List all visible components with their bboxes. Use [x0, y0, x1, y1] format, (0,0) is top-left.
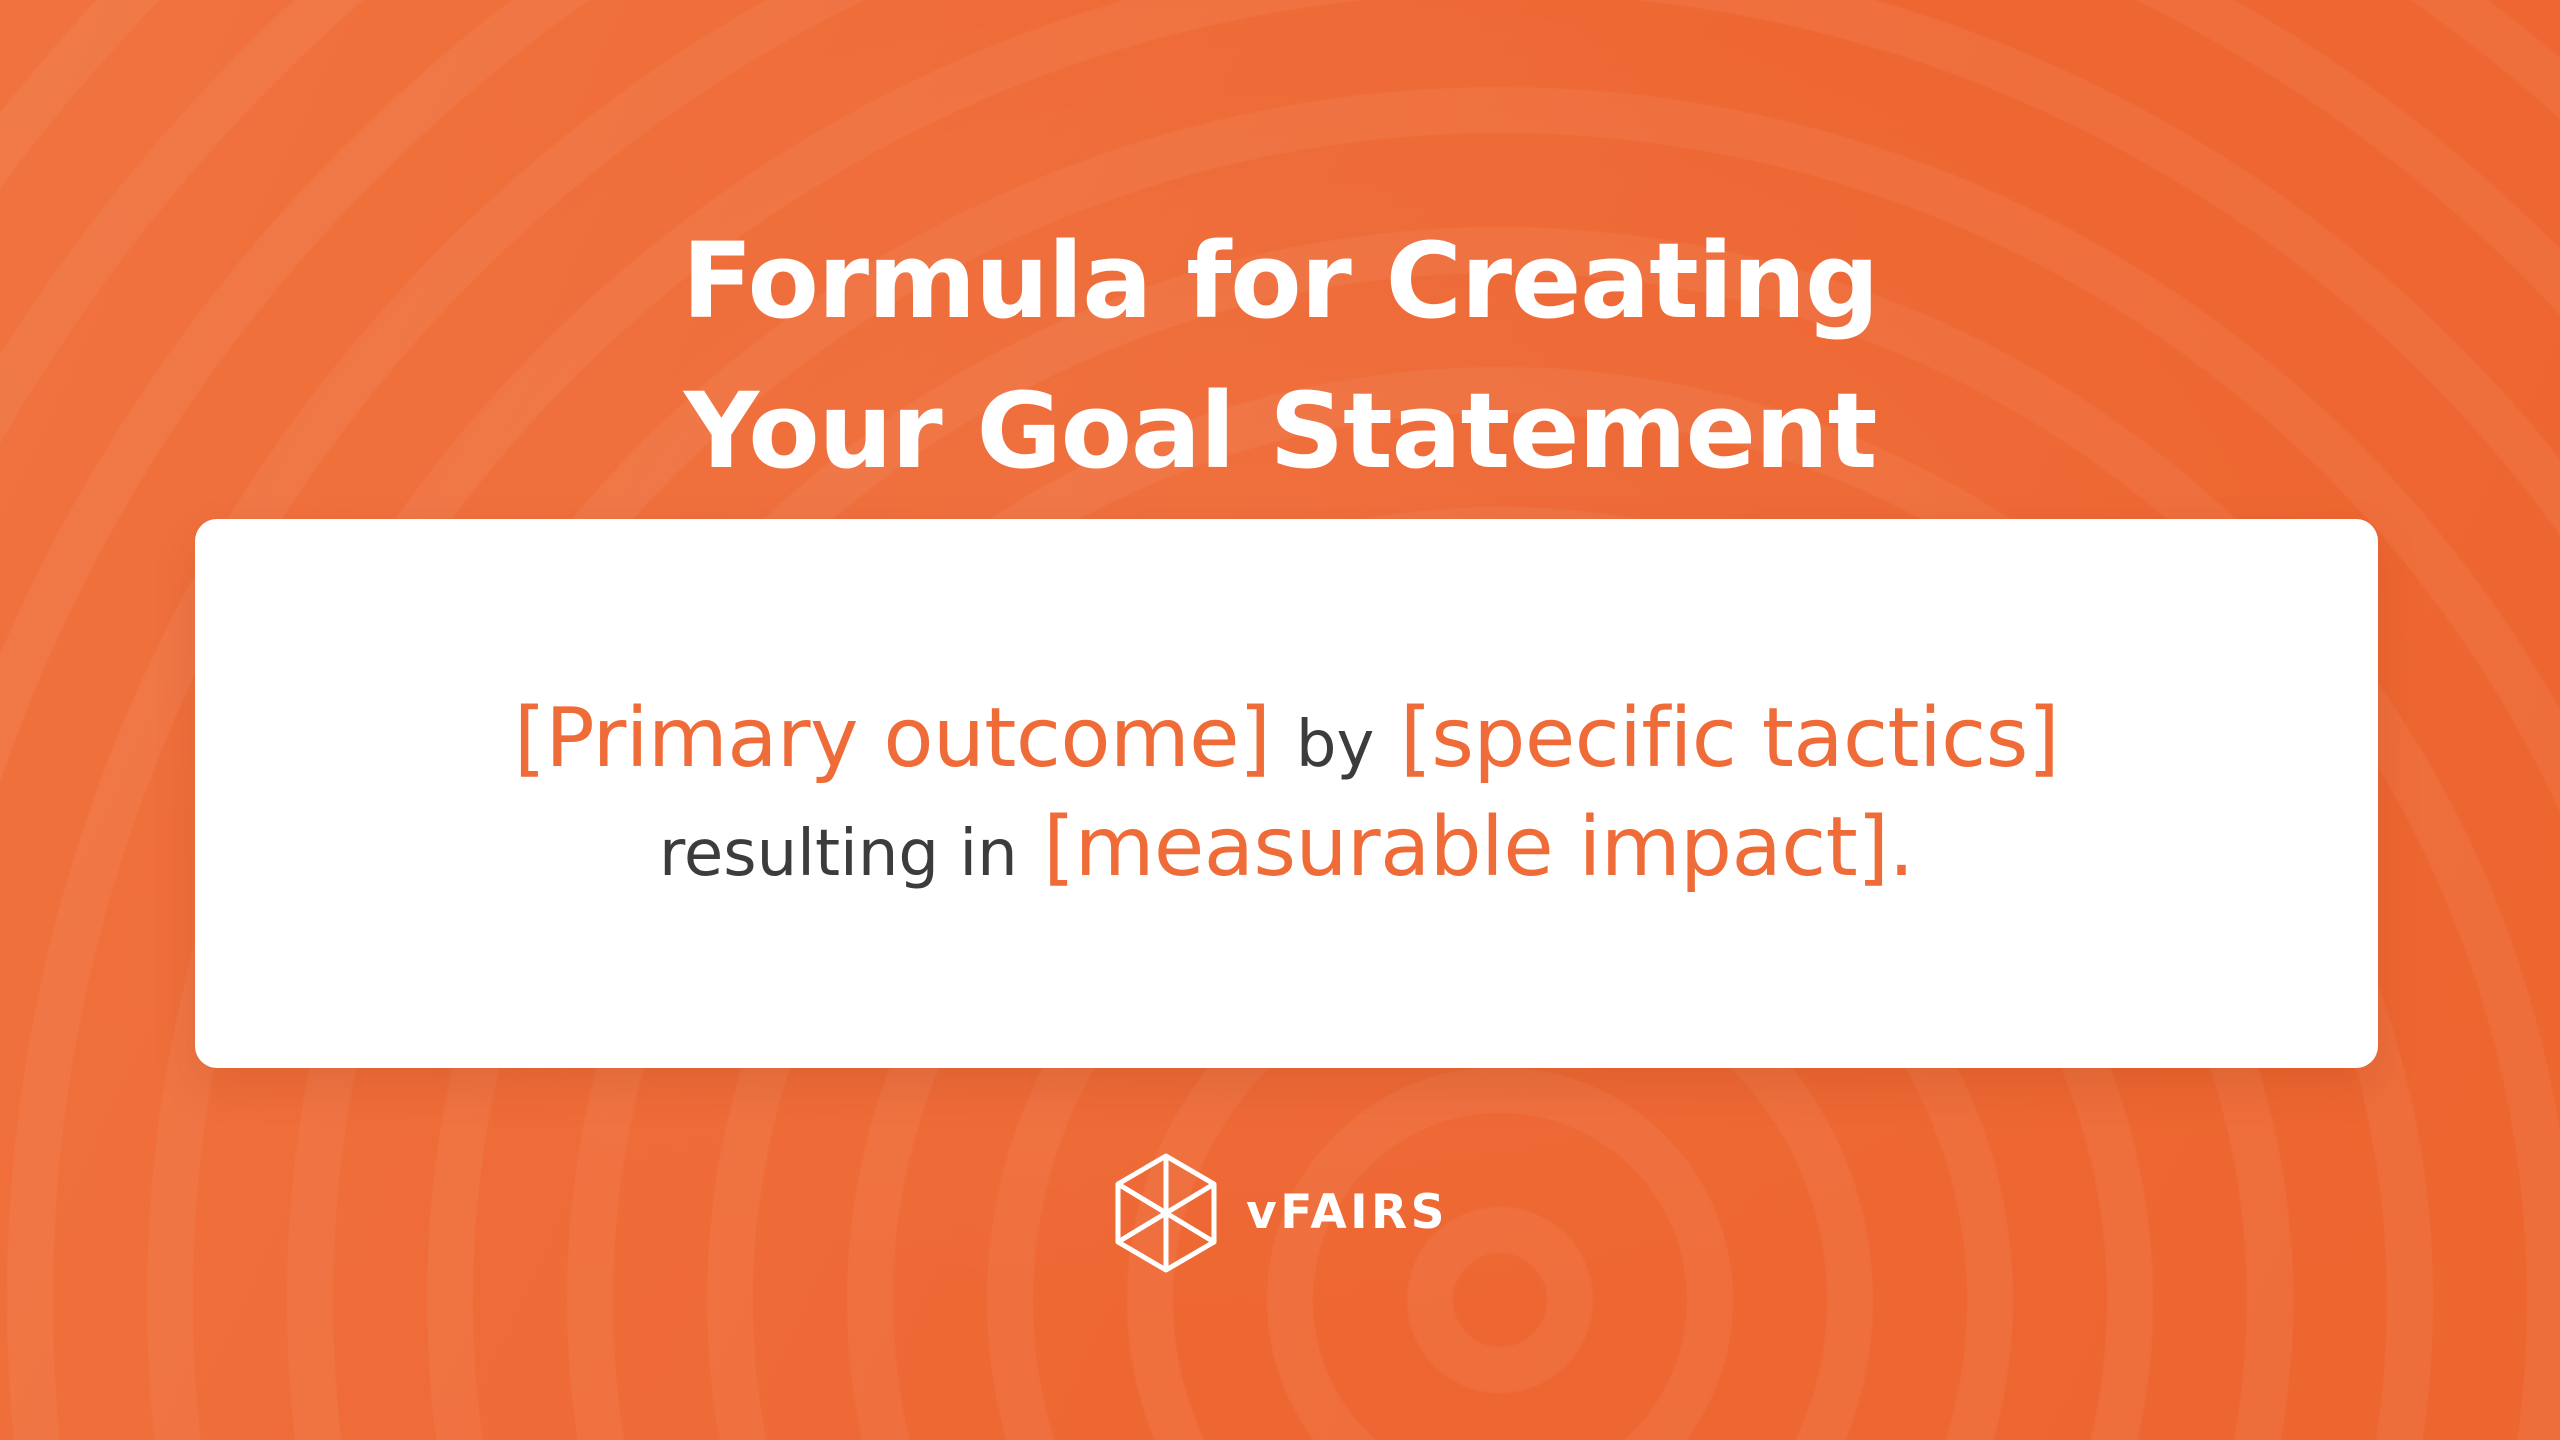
formula-line-1: [Primary outcome] by [specific tactics] — [255, 685, 2318, 793]
vfairs-logo-lockup: vFAIRS — [0, 1152, 2560, 1274]
formula-joiner-by: by — [1296, 708, 1375, 782]
placeholder-primary-outcome: [Primary outcome] — [514, 691, 1271, 786]
placeholder-specific-tactics: [specific tactics] — [1400, 691, 2059, 786]
vfairs-wordmark: vFAIRS — [1246, 1189, 1448, 1238]
formula-joiner-resulting-in: resulting in — [659, 817, 1018, 891]
placeholder-measurable-impact: [measurable impact]. — [1043, 800, 1914, 895]
page-title: Formula for Creating Your Goal Statement — [0, 206, 2560, 508]
hexagon-cube-icon — [1112, 1152, 1220, 1274]
goal-statement-formula: [Primary outcome] by [specific tactics] … — [195, 685, 2378, 901]
slide-canvas: Formula for Creating Your Goal Statement… — [0, 0, 2560, 1440]
formula-line-2: resulting in [measurable impact]. — [255, 794, 2318, 902]
formula-card: [Primary outcome] by [specific tactics] … — [195, 519, 2378, 1068]
